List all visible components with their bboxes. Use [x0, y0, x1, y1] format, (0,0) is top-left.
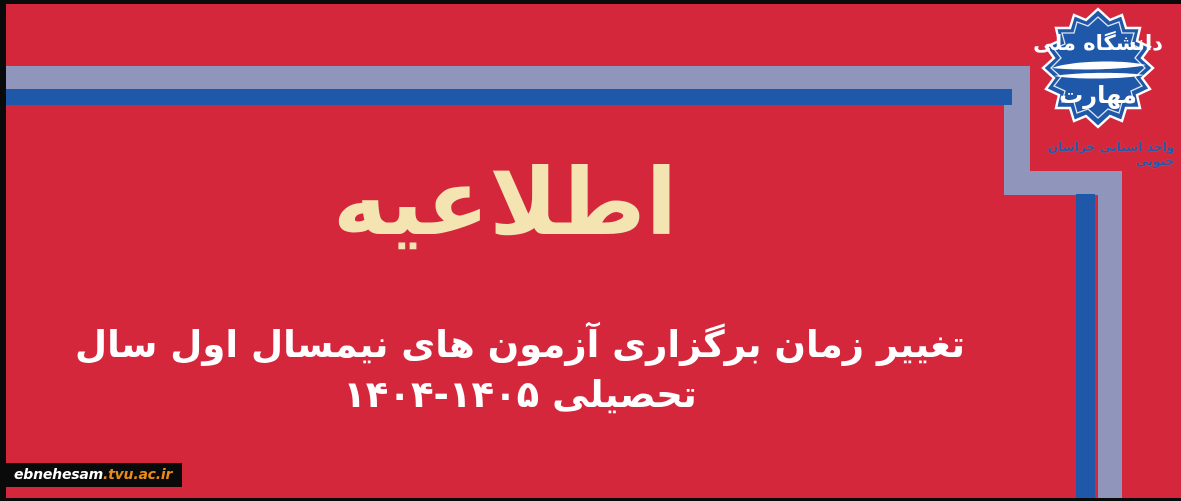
- ribbon-blue-vertical-right: [1076, 194, 1095, 501]
- ribbon-grey-horizontal-top: [0, 66, 1030, 89]
- ribbon-blue-horizontal-top: [0, 89, 1012, 105]
- watermark-site-name: ebnehesam: [14, 467, 103, 483]
- crest-bottom-text: مهارت: [1059, 81, 1137, 109]
- ribbon-grey-vertical-right: [1098, 171, 1122, 501]
- poster-headline: اطلاعیه: [0, 150, 1010, 256]
- logo-caption: واحد استانی خراسان جنوبی: [1022, 140, 1175, 168]
- watermark-site-domain: .tvu.ac.ir: [103, 467, 172, 483]
- frame-left-rail: [0, 0, 6, 501]
- crest-top-text: دانشگاه ملی: [1034, 30, 1162, 55]
- university-crest-icon: دانشگاه ملی مهارت: [1034, 6, 1162, 138]
- university-logo: دانشگاه ملی مهارت واحد استانی خراسان جنو…: [1023, 6, 1173, 178]
- frame-top-rail: [0, 0, 1181, 4]
- announcement-poster: دانشگاه ملی مهارت واحد استانی خراسان جنو…: [0, 0, 1181, 501]
- poster-subheadline: تغییر زمان برگزاری آزمون های نیمسال اول …: [0, 320, 1040, 420]
- site-watermark: ebnehesam .tvu.ac.ir: [6, 463, 182, 487]
